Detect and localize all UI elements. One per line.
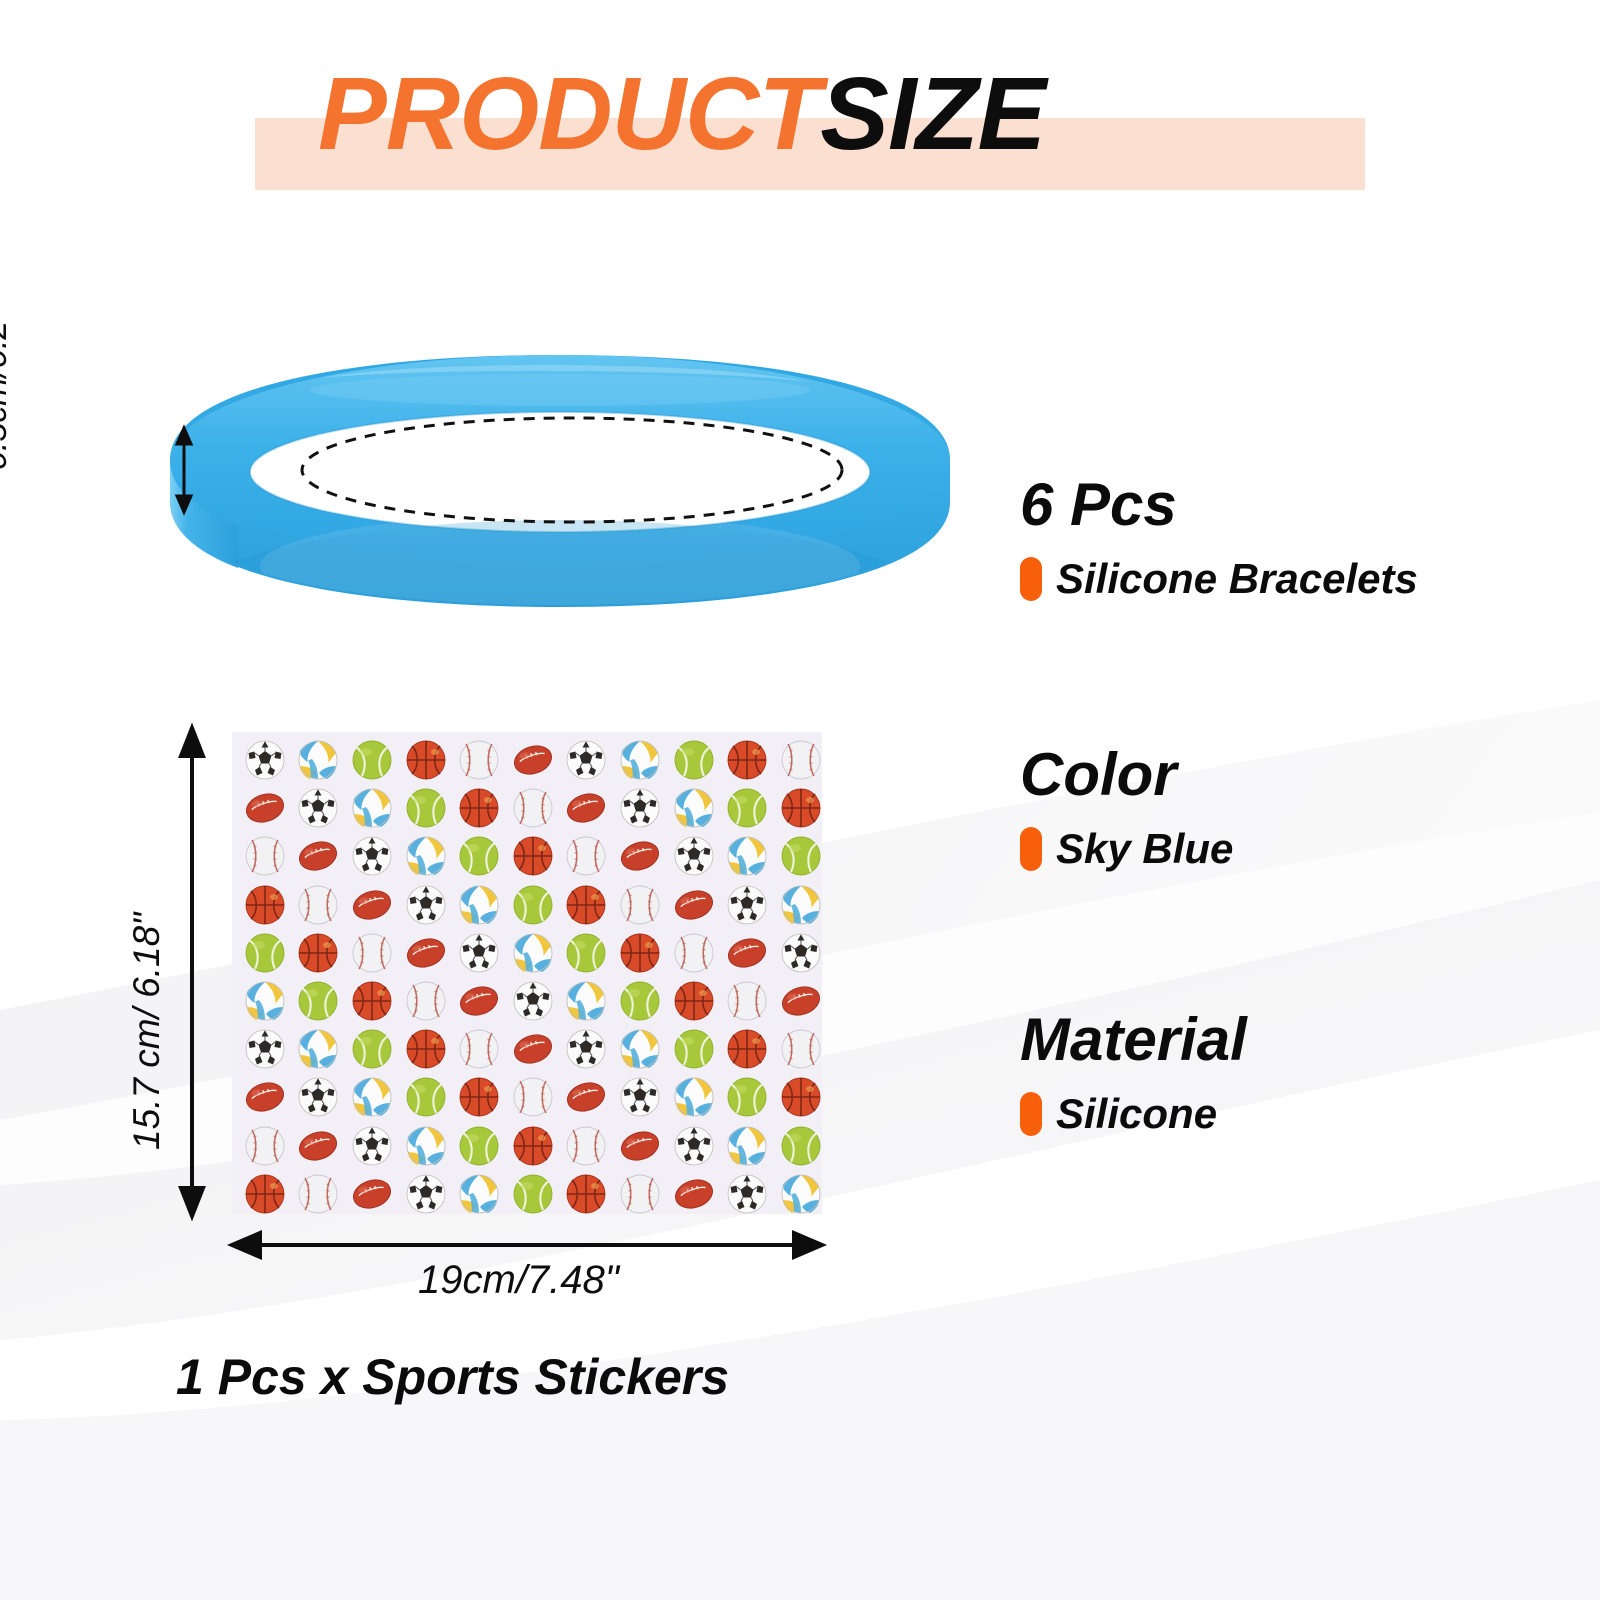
spec-pcs-title: 6 Pcs [1020,475,1418,535]
sticker-volleyball [399,832,453,880]
sticker-soccer [292,784,346,832]
sticker-baseball [506,784,560,832]
sticker-basketball [774,784,822,832]
page-title: PRODUCTSIZE [318,62,1045,165]
sticker-basketball [774,1073,822,1121]
sticker-baseball [452,736,506,784]
page-title-product: PRODUCT [318,56,820,171]
sticker-basketball [399,736,453,784]
sticker-football [613,1122,667,1170]
sticker-basketball [506,832,560,880]
sticker-soccer [667,1122,721,1170]
sticker-football [506,736,560,784]
sticker-football [238,784,292,832]
sticker-baseball [345,929,399,977]
sticker-volleyball [238,977,292,1025]
sticker-baseball [613,1170,667,1214]
sticker-tennis [667,736,721,784]
sticker-soccer [452,929,506,977]
spec-color: Color Sky Blue [1020,745,1233,871]
sports-sticker-sheet [232,732,822,1214]
spec-color-title: Color [1020,745,1233,805]
spec-material-value: Silicone [1056,1093,1217,1135]
sticker-tennis [774,1122,822,1170]
sticker-baseball [292,1170,346,1214]
sticker-soccer [238,736,292,784]
sticker-baseball [292,881,346,929]
sticker-soccer [399,1170,453,1214]
sticker-basketball [452,784,506,832]
sticker-volleyball [720,832,774,880]
sticker-volleyball [292,736,346,784]
sticker-tennis [720,1073,774,1121]
sticker-football [345,881,399,929]
sticker-baseball [774,736,822,784]
sticker-basketball [613,929,667,977]
sticker-football [345,1170,399,1214]
sticker-football [774,977,822,1025]
sticker-soccer [506,977,560,1025]
sticker-baseball [667,929,721,977]
bullet-icon [1020,1092,1042,1136]
sticker-baseball [560,1122,614,1170]
sticker-tennis [506,881,560,929]
sticker-football [292,832,346,880]
sticker-football [560,784,614,832]
sticker-tennis [238,929,292,977]
sticker-basketball [399,1025,453,1073]
sticker-soccer [399,881,453,929]
sticker-volleyball [667,1073,721,1121]
sticker-volleyball [774,881,822,929]
sticker-tennis [292,977,346,1025]
sticker-football [667,881,721,929]
sticker-volleyball [345,784,399,832]
spec-material-title: Material [1020,1010,1247,1070]
sticker-baseball [452,1025,506,1073]
sticker-baseball [774,1025,822,1073]
sticker-soccer [345,832,399,880]
sticker-volleyball [774,1170,822,1214]
sticker-baseball [506,1073,560,1121]
sticker-soccer [238,1025,292,1073]
sticker-volleyball [506,929,560,977]
sticker-football [292,1122,346,1170]
sticker-soccer [292,1073,346,1121]
sticker-basketball [238,1170,292,1214]
sticker-soccer [345,1122,399,1170]
sticker-volleyball [667,784,721,832]
sticker-basketball [720,736,774,784]
sticker-tennis [345,1025,399,1073]
sticker-baseball [720,977,774,1025]
sticker-sheet-caption: 1 Pcs x Sports Stickers [176,1348,729,1406]
sticker-soccer [720,1170,774,1214]
sticker-basketball [292,929,346,977]
sticker-football [613,832,667,880]
sticker-tennis [452,832,506,880]
sticker-tennis [506,1170,560,1214]
sheet-width-dimension-label: 19cm/7.48" [418,1258,619,1303]
sticker-football [452,977,506,1025]
infographic-canvas: PRODUCTSIZE [0,0,1600,1600]
sticker-soccer [560,736,614,784]
bullet-icon [1020,557,1042,601]
sticker-basketball [506,1122,560,1170]
sticker-tennis [399,784,453,832]
page-title-size: SIZE [820,56,1045,171]
sticker-tennis [560,929,614,977]
sticker-soccer [667,832,721,880]
sticker-tennis [613,977,667,1025]
spec-material: Material Silicone [1020,1010,1247,1136]
sticker-football [667,1170,721,1214]
sticker-baseball [238,832,292,880]
sticker-football [560,1073,614,1121]
sheet-height-dimension-label: 15.7 cm/ 6.18" [126,913,168,1150]
spec-color-value: Sky Blue [1056,828,1233,870]
sticker-volleyball [292,1025,346,1073]
sticker-baseball [613,881,667,929]
sticker-basketball [560,881,614,929]
spec-pcs: 6 Pcs Silicone Bracelets [1020,475,1418,601]
sticker-soccer [720,881,774,929]
sticker-volleyball [452,881,506,929]
sticker-basketball [667,977,721,1025]
sticker-basketball [720,1025,774,1073]
spec-pcs-value: Silicone Bracelets [1056,558,1418,600]
sticker-basketball [452,1073,506,1121]
sticker-volleyball [613,736,667,784]
sticker-grid [232,732,822,1214]
spec-color-row: Sky Blue [1020,827,1233,871]
sticker-tennis [452,1122,506,1170]
sticker-basketball [560,1170,614,1214]
bracelet-width-dimension-label: 0.5cm/0.2" [0,309,15,470]
spec-material-row: Silicone [1020,1092,1247,1136]
sticker-volleyball [613,1025,667,1073]
sticker-football [506,1025,560,1073]
sticker-baseball [238,1122,292,1170]
sticker-baseball [399,977,453,1025]
sticker-soccer [613,1073,667,1121]
sticker-football [238,1073,292,1121]
bullet-icon [1020,827,1042,871]
sticker-tennis [774,832,822,880]
sticker-volleyball [452,1170,506,1214]
sticker-volleyball [560,977,614,1025]
sticker-football [720,929,774,977]
sticker-tennis [399,1073,453,1121]
spec-pcs-row: Silicone Bracelets [1020,557,1418,601]
sticker-soccer [774,929,822,977]
sticker-soccer [613,784,667,832]
sticker-tennis [345,736,399,784]
silicone-bracelet-graphic [120,330,1000,630]
sticker-baseball [560,832,614,880]
sticker-basketball [345,977,399,1025]
sticker-basketball [238,881,292,929]
bracelet-illustration: 18cm/7.09" [120,330,1000,630]
sticker-tennis [720,784,774,832]
sticker-volleyball [345,1073,399,1121]
sticker-soccer [560,1025,614,1073]
sticker-volleyball [399,1122,453,1170]
sticker-football [399,929,453,977]
sticker-tennis [667,1025,721,1073]
sticker-volleyball [720,1122,774,1170]
